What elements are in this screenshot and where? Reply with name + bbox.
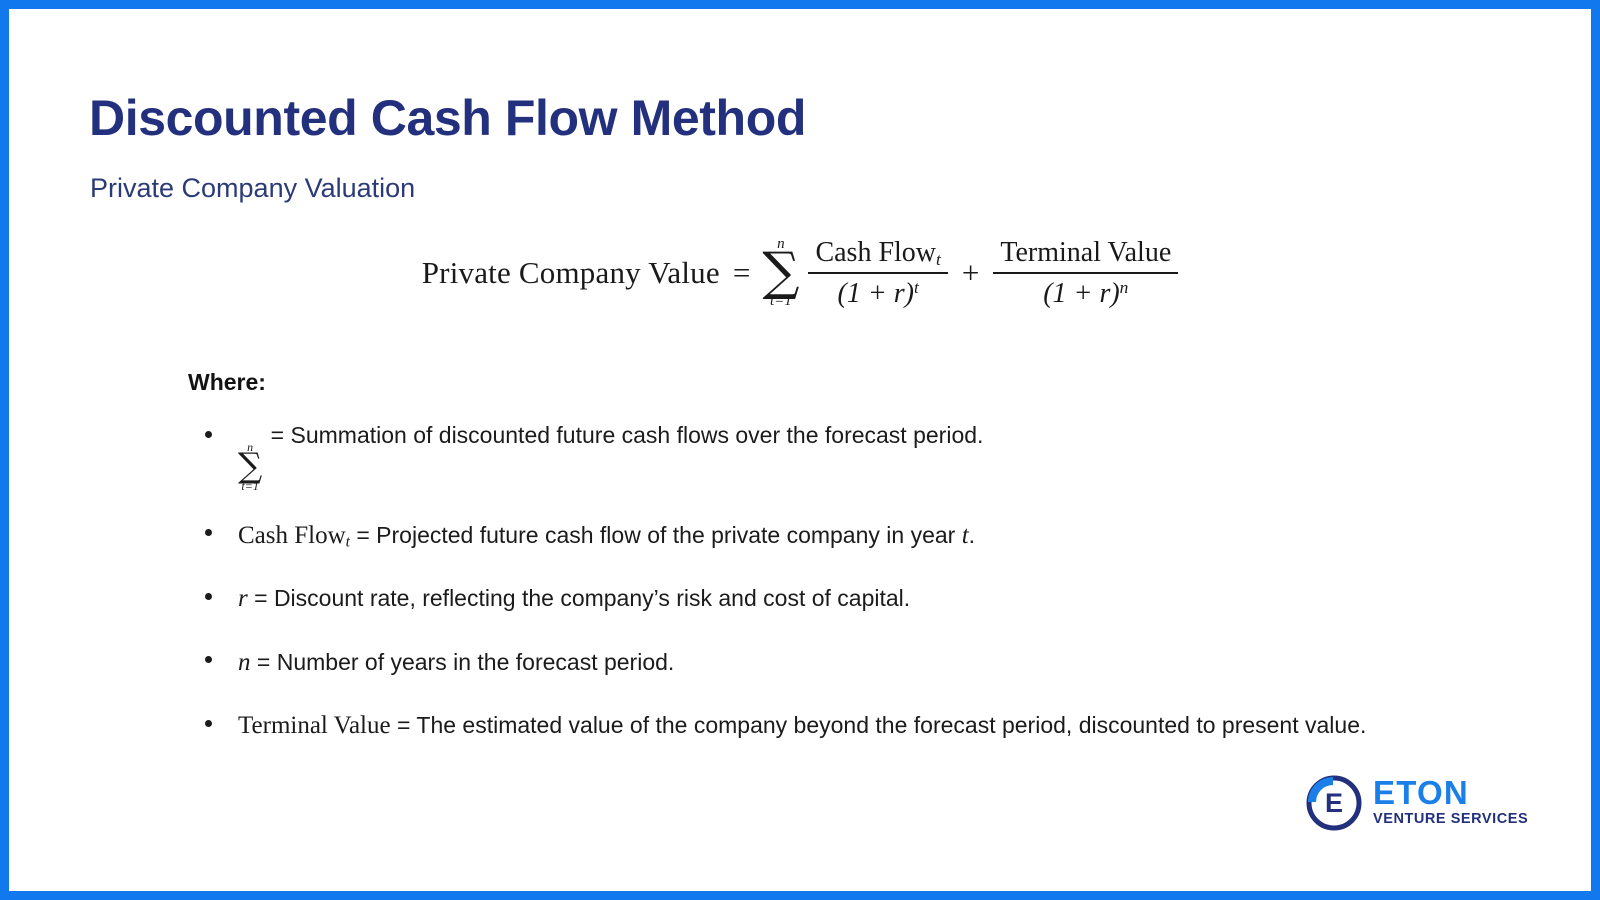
definition-symbol-terminal-value: Terminal Value: [238, 712, 391, 739]
definition-description: = Number of years in the forecast period…: [257, 649, 674, 675]
definition-list: n ∑ t=1 = Summation of discounted future…: [188, 417, 1488, 746]
formula-block: Private Company Value = n ∑ t=1 Cash Flo…: [9, 237, 1591, 310]
logo-name: ETON: [1373, 776, 1528, 809]
list-item: Cash Flowt = Projected future cash flow …: [188, 516, 1488, 556]
summation-lower-limit: t=1: [241, 480, 258, 492]
slide-canvas: Discounted Cash Flow Method Private Comp…: [9, 9, 1591, 891]
formula-term2-numerator: Terminal Value: [993, 237, 1178, 271]
eton-logo-mark-icon: E: [1300, 769, 1364, 833]
list-item: n ∑ t=1 = Summation of discounted future…: [188, 417, 1488, 492]
page-subtitle: Private Company Valuation: [90, 172, 415, 204]
formula-term1-numerator: Cash Flowt: [808, 237, 947, 272]
definition-symbol-summation: n ∑ t=1: [238, 441, 262, 492]
where-label: Where:: [188, 369, 266, 396]
definition-symbol-text: Cash Flow: [238, 522, 346, 549]
summation-lower-limit: t=1: [770, 294, 792, 309]
definition-description-tail: .: [969, 522, 975, 548]
formula-term2-denominator: (1 + r)n: [1036, 274, 1135, 309]
definition-description: = Projected future cash flow of the priv…: [356, 522, 961, 548]
definition-description: = Summation of discounted future cash fl…: [271, 422, 984, 448]
formula-term1-denominator-text: (1 + r): [838, 278, 914, 309]
eton-logo-wordmark: ETON VENTURE SERVICES: [1373, 776, 1528, 827]
bullet-dot-icon: [205, 431, 212, 438]
definition-symbol-subscript: t: [346, 533, 350, 550]
definition-description-inline-math: t: [962, 522, 969, 549]
bullet-dot-icon: [205, 529, 212, 536]
sigma-icon: ∑: [762, 250, 799, 295]
definition-description: = Discount rate, reflecting the company’…: [254, 585, 910, 611]
formula-term1-denominator-exponent: t: [914, 278, 919, 297]
definition-symbol-years: n: [238, 649, 251, 676]
bullet-dot-icon: [205, 656, 212, 663]
list-item: Terminal Value = The estimated value of …: [188, 706, 1488, 746]
formula-term2-denominator-text: (1 + r): [1043, 278, 1119, 309]
definition-description: = The estimated value of the company bey…: [397, 712, 1366, 738]
logo-monogram: E: [1325, 788, 1343, 818]
dcf-formula: Private Company Value = n ∑ t=1 Cash Flo…: [422, 237, 1179, 310]
formula-term1-numerator-text: Cash Flow: [815, 237, 936, 268]
slide-frame: Discounted Cash Flow Method Private Comp…: [0, 0, 1600, 900]
list-item: r = Discount rate, reflecting the compan…: [188, 579, 1488, 619]
list-item: n = Number of years in the forecast peri…: [188, 643, 1488, 683]
formula-term-terminal-value: Terminal Value (1 + r)n: [993, 237, 1178, 309]
eton-logo: E ETON VENTURE SERVICES: [1300, 761, 1530, 841]
formula-plus-sign: +: [962, 255, 979, 291]
formula-term1-numerator-subscript: t: [936, 250, 941, 269]
formula-term-cashflow: Cash Flowt (1 + r)t: [808, 237, 947, 310]
formula-term1-denominator: (1 + r)t: [831, 274, 926, 309]
bullet-dot-icon: [205, 720, 212, 727]
page-title: Discounted Cash Flow Method: [89, 92, 806, 145]
definition-symbol-cash-flow: Cash Flowt: [238, 522, 350, 549]
definition-symbol-discount-rate: r: [238, 585, 248, 612]
logo-tagline: VENTURE SERVICES: [1373, 812, 1528, 827]
summation-operator: n ∑ t=1: [762, 237, 799, 309]
bullet-dot-icon: [205, 593, 212, 600]
sigma-icon: ∑: [238, 453, 262, 480]
formula-lhs: Private Company Value: [422, 255, 720, 291]
formula-equals-sign: =: [733, 255, 750, 291]
formula-term2-denominator-exponent: n: [1120, 278, 1129, 297]
